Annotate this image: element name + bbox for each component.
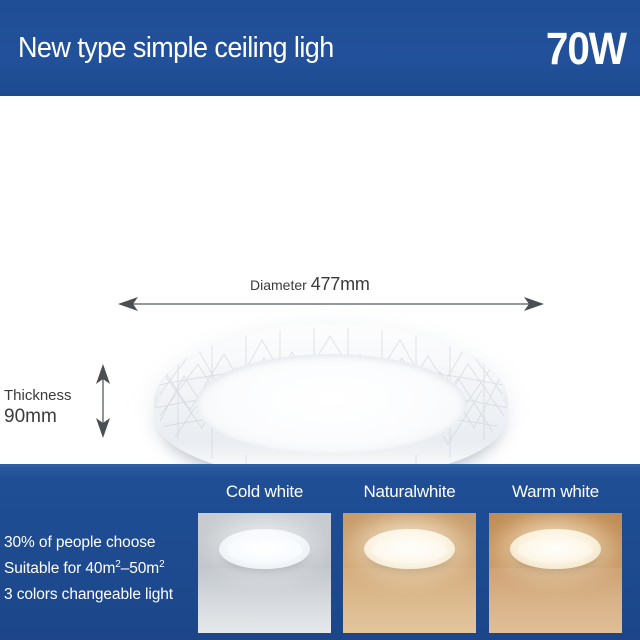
page-title: New type simple ceiling ligh	[18, 33, 334, 63]
feature-line-3: 3 colors changeable light	[4, 582, 200, 608]
swatch-image-warm-white	[489, 513, 622, 633]
swatch-image-natural-white	[343, 513, 476, 633]
lamp-fixture-face	[518, 537, 592, 563]
diameter-annotation: Diameter 477mm	[250, 274, 370, 295]
wattage-badge: 70W	[546, 26, 626, 72]
swatch-label-cold-white: Cold white	[198, 482, 331, 502]
feature-line-1: 30% of people choose	[4, 530, 200, 556]
diameter-value: 477mm	[311, 274, 370, 294]
diameter-label: Diameter	[250, 277, 307, 293]
feature-line-2-sup2: 2	[159, 559, 164, 570]
swatch-image-cold-white	[198, 513, 331, 633]
lamp-fixture-face	[372, 537, 446, 563]
feature-copy-block: 30% of people choose Suitable for 40m2–5…	[4, 530, 200, 608]
header-bar: New type simple ceiling ligh 70W	[0, 0, 640, 96]
product-banner: New type simple ceiling ligh 70W Diamete…	[0, 0, 640, 640]
swatch-label-warm-white: Warm white	[489, 482, 622, 502]
thickness-annotation: Thickness 90mm	[4, 387, 72, 428]
thickness-label: Thickness	[4, 387, 72, 405]
swatch-label-natural-white: Naturalwhite	[343, 482, 476, 502]
thickness-arrow-icon	[93, 364, 113, 438]
product-stage: Diameter 477mm Thickness 90mm	[0, 96, 640, 464]
lamp-fixture-face	[227, 537, 301, 563]
feature-line-2: Suitable for 40m2–50m2	[4, 556, 200, 582]
thickness-value: 90mm	[4, 405, 72, 428]
lamp-diffuser-panel	[196, 354, 466, 454]
feature-line-2-pre: Suitable for 40m	[4, 560, 115, 577]
feature-line-2-mid: –50m	[121, 560, 159, 577]
